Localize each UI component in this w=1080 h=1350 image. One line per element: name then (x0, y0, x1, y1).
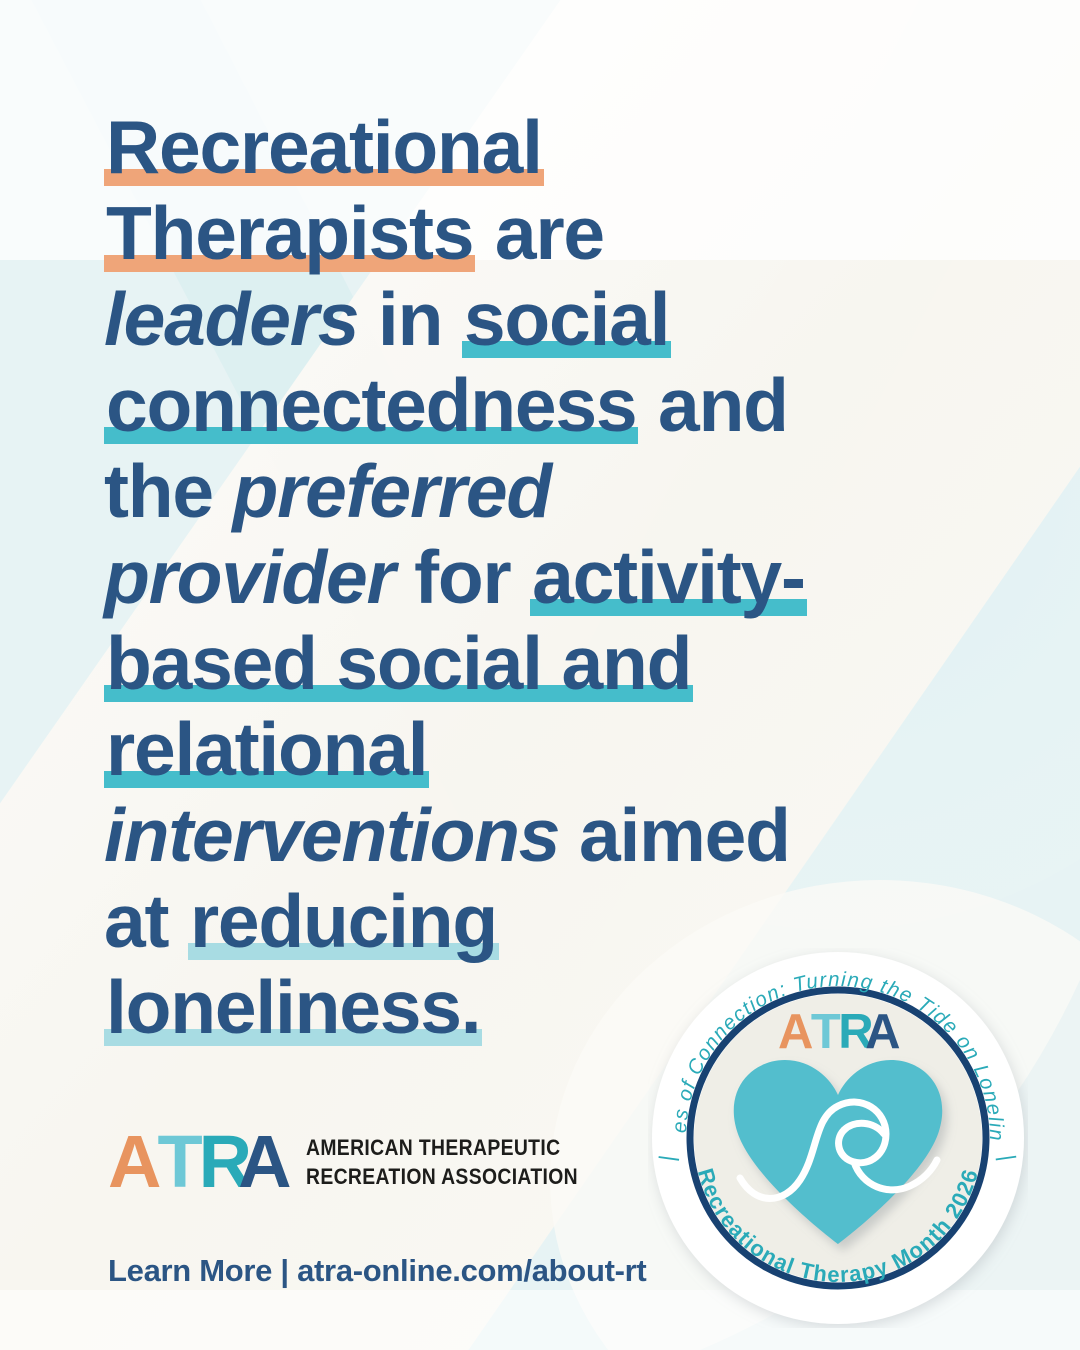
badge-atra-letter-a1: A (778, 1008, 811, 1057)
atra-letter-a1: A (108, 1125, 157, 1199)
badge-atra-letter-a2: A (865, 1008, 898, 1057)
headline-seg: loneliness. (104, 964, 482, 1050)
rt-month-badge: Waves of Connection: Turning the Tide on… (648, 948, 1028, 1328)
headline-seg: are (475, 191, 604, 275)
headline-seg: leaders (104, 277, 358, 361)
headline-seg: Therapists (104, 190, 475, 276)
atra-letter-t: T (157, 1125, 198, 1199)
poster-canvas: Recreational Therapists are leaders in s… (0, 0, 1080, 1350)
headline-seg: and (638, 363, 787, 447)
badge-atra-wordmark: ATRA (778, 1008, 898, 1057)
headline-line-8: relational (104, 706, 894, 792)
headline-line-2: Therapists are (104, 190, 894, 276)
headline-line-4: connectedness and (104, 362, 894, 448)
headline-line-7: based social and (104, 620, 894, 706)
headline-seg: at (104, 879, 188, 963)
atra-name-line-2: RECREATION ASSOCIATION (306, 1166, 578, 1188)
headline-seg: Recreational (104, 104, 544, 190)
headline-seg: activity- (530, 534, 807, 620)
headline: Recreational Therapists are leaders in s… (104, 104, 894, 1050)
atra-full-name: AMERICAN THERAPEUTIC RECREATION ASSOCIAT… (306, 1137, 578, 1188)
atra-logo: ATRA AMERICAN THERAPEUTIC RECREATION ASS… (108, 1125, 615, 1199)
headline-line-5: the preferred (104, 448, 894, 534)
learn-more-link[interactable]: Learn More | atra-online.com/about-rt (108, 1253, 646, 1289)
headline-seg: relational (104, 706, 429, 792)
headline-seg: for (394, 535, 530, 619)
headline-seg: based social and (104, 620, 693, 706)
headline-seg: provider (104, 535, 394, 619)
headline-seg: connectedness (104, 362, 638, 448)
headline-line-1: Recreational (104, 104, 894, 190)
headline-line-9: interventions aimed (104, 792, 894, 878)
headline-line-6: provider for activity- (104, 534, 894, 620)
headline-seg: reducing (188, 878, 499, 964)
headline-line-3: leaders in social (104, 276, 894, 362)
headline-seg: interventions (104, 793, 559, 877)
atra-name-line-1: AMERICAN THERAPEUTIC (306, 1137, 578, 1159)
headline-seg: aimed (559, 793, 789, 877)
headline-seg: preferred (233, 449, 552, 533)
headline-seg: social (462, 276, 671, 362)
headline-seg: in (358, 277, 462, 361)
badge-atra-letter-t: T (811, 1008, 838, 1057)
atra-letter-a2: A (238, 1125, 287, 1199)
atra-wordmark: ATRA (108, 1125, 288, 1199)
headline-seg: the (104, 449, 233, 533)
